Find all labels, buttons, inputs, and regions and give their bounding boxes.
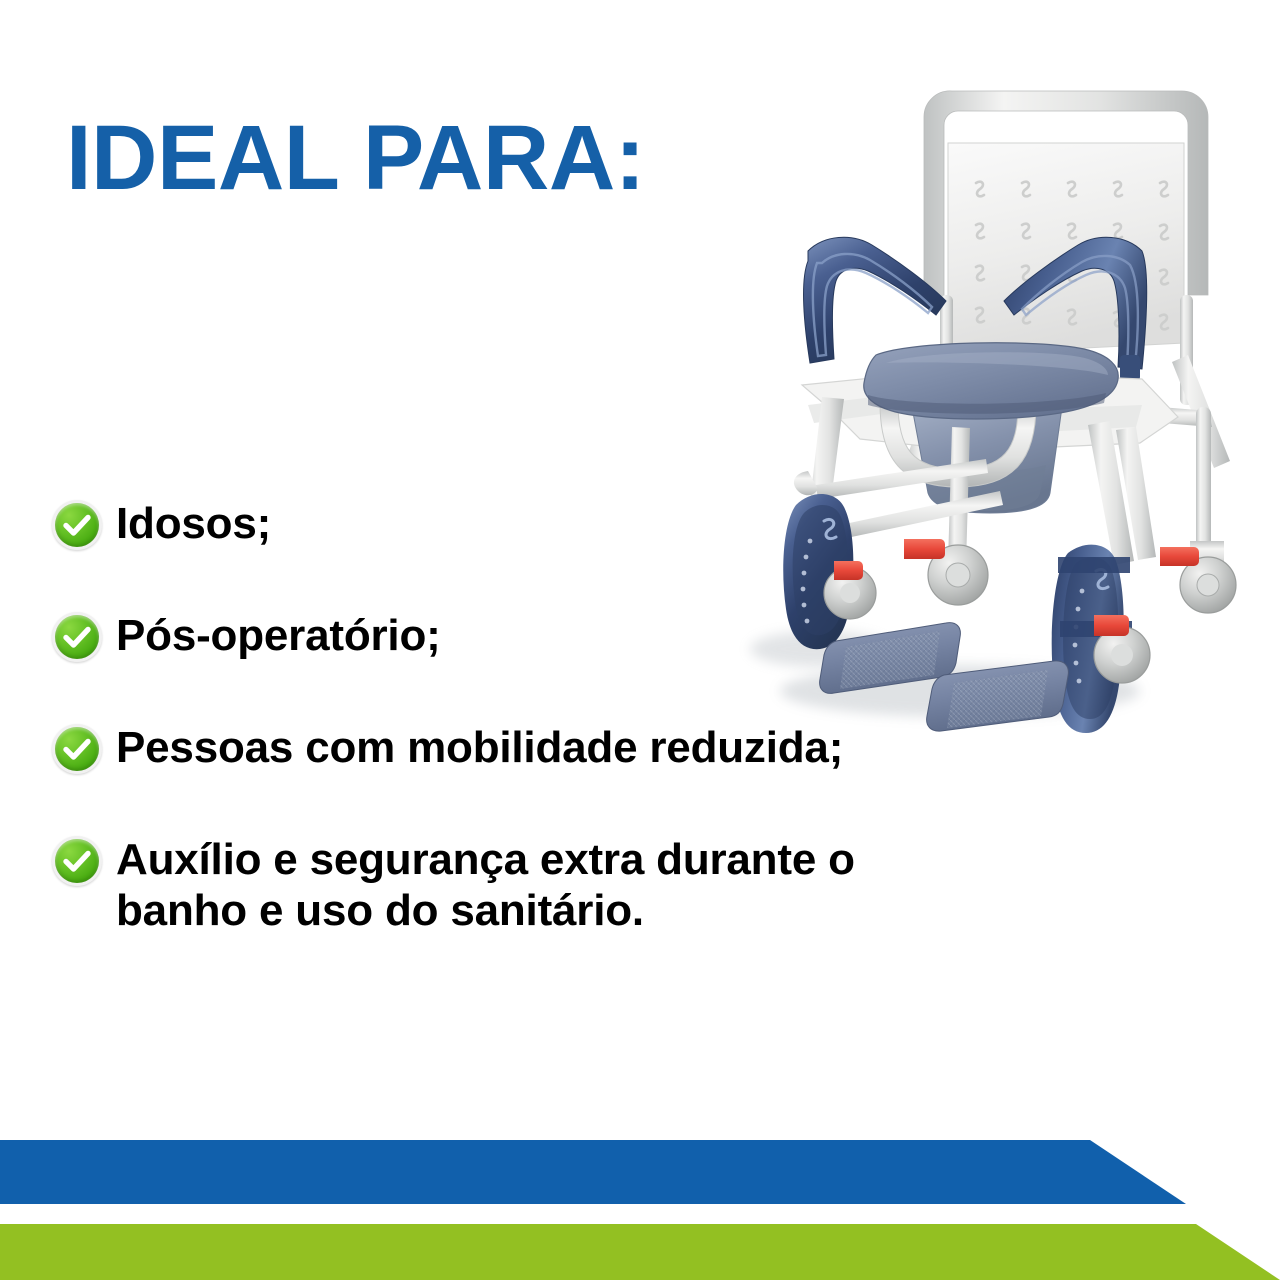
page-title: IDEAL PARA: bbox=[66, 112, 645, 204]
list-item-label: Idosos; bbox=[116, 499, 271, 548]
bullet-list: Idosos; Pós-operatório; bbox=[52, 498, 1062, 936]
footer-decoration bbox=[0, 1120, 1280, 1280]
green-check-circle-icon bbox=[52, 612, 102, 662]
list-item-label-line2: banho e uso do sanitário. bbox=[116, 885, 855, 936]
blue-angled-bar bbox=[0, 1140, 1186, 1204]
armrest-bracket-right bbox=[1120, 355, 1140, 381]
list-item-label: Pessoas com mobilidade reduzida; bbox=[116, 723, 843, 772]
backrest-panel bbox=[948, 143, 1184, 355]
green-check-circle-icon bbox=[52, 500, 102, 550]
caster-rear-right bbox=[1160, 541, 1236, 613]
list-item: Pós-operatório; bbox=[52, 610, 1062, 662]
legrest-right bbox=[1052, 545, 1150, 733]
poster-canvas: IDEAL PARA: bbox=[0, 0, 1280, 1280]
list-item: Idosos; bbox=[52, 498, 1062, 550]
brake-lever-rear-right bbox=[1160, 547, 1199, 566]
green-check-circle-icon bbox=[52, 724, 102, 774]
green-angled-bar bbox=[0, 1224, 1280, 1280]
green-check-circle-icon bbox=[52, 836, 102, 886]
list-item-label: Pós-operatório; bbox=[116, 611, 441, 660]
brake-lever-right bbox=[1094, 615, 1129, 636]
list-item-label: Auxílio e segurança extra durante o bbox=[116, 835, 855, 884]
list-item: Auxílio e segurança extra durante o banh… bbox=[52, 834, 1062, 936]
list-item: Pessoas com mobilidade reduzida; bbox=[52, 722, 1062, 774]
